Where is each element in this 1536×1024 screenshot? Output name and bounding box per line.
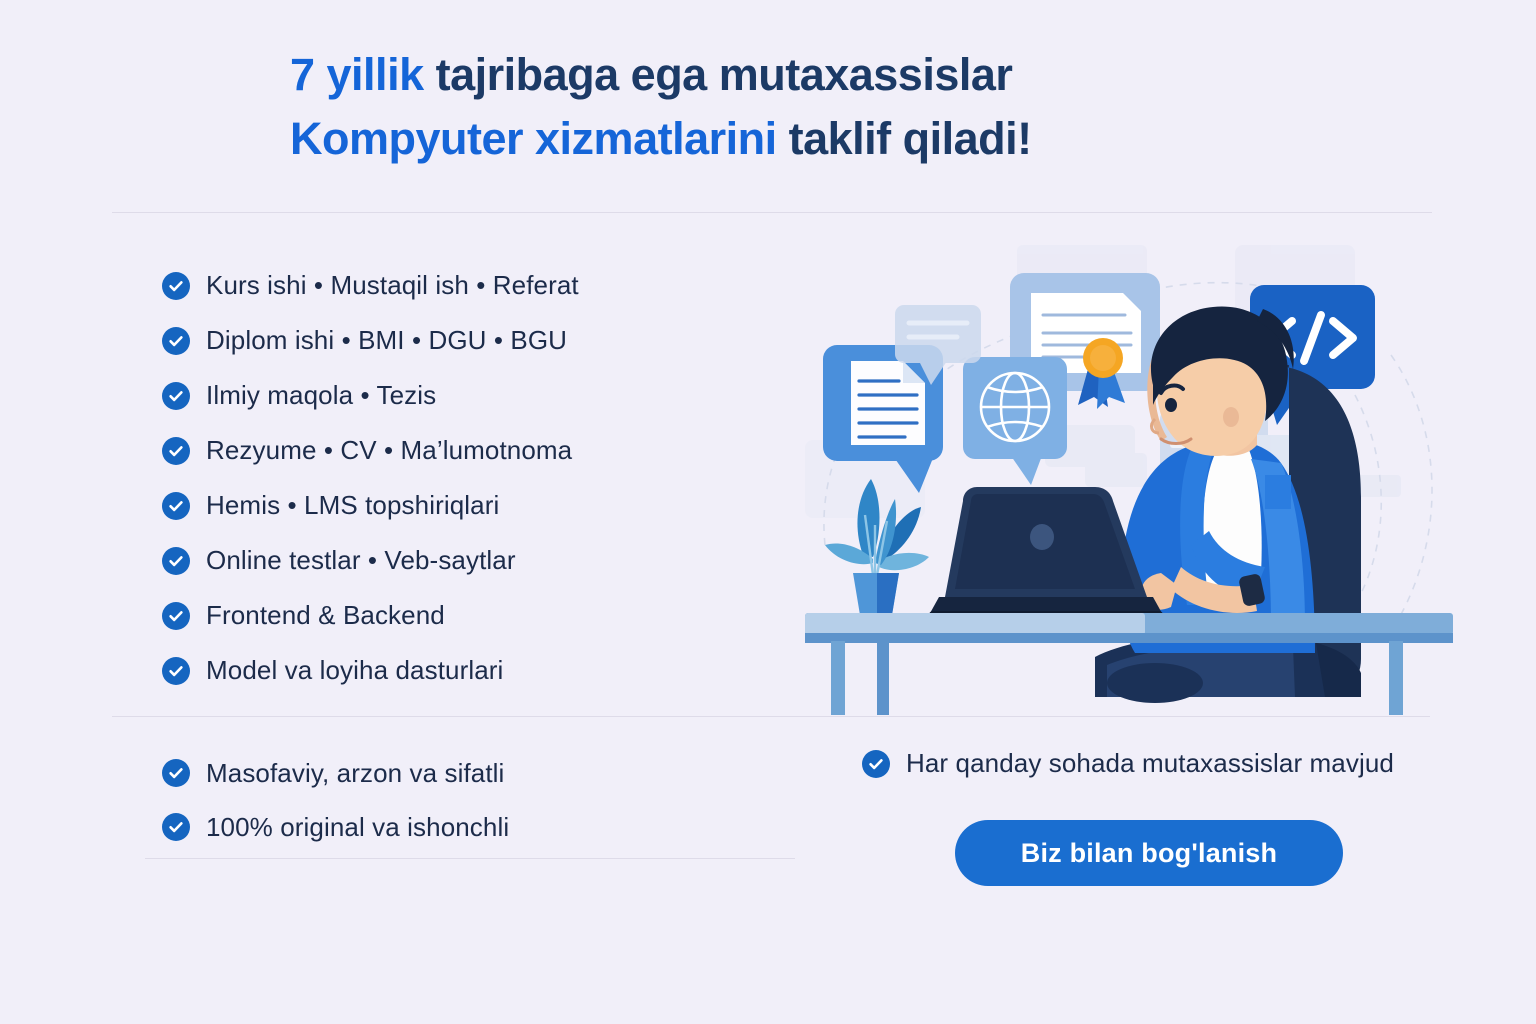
list-item: Frontend & Backend (162, 588, 782, 643)
hero-illustration (795, 245, 1465, 715)
title-line-2-rest: taklif qiladi! (789, 113, 1032, 164)
list-item-label: Online testlar • Veb-saytlar (206, 545, 516, 576)
availability-note-label: Har qanday sohada mutaxassislar mavjud (906, 748, 1394, 779)
poster-canvas: 7 yillik tajribaga ega mutaxassislar Kom… (0, 0, 1536, 1024)
title-line-2-accent: Kompyuter xizmatlarini (290, 113, 789, 164)
check-circle-icon (162, 602, 190, 630)
list-item: Model va loyiha dasturlari (162, 643, 782, 698)
title-line-1-accent: 7 yillik (290, 49, 436, 100)
list-item-label: Kurs ishi • Mustaqil ish • Referat (206, 270, 579, 301)
availability-note: Har qanday sohada mutaxassislar mavjud (862, 748, 1394, 779)
check-circle-icon (162, 382, 190, 410)
illustration-svg (795, 245, 1465, 715)
list-item-label: Frontend & Backend (206, 600, 445, 631)
check-circle-icon (162, 272, 190, 300)
list-item-label: Masofaviy, arzon va sifatli (206, 758, 504, 789)
list-item-label: Model va loyiha dasturlari (206, 655, 503, 686)
check-circle-icon (862, 750, 890, 778)
list-item: Online testlar • Veb-saytlar (162, 533, 782, 588)
contact-us-button[interactable]: Biz bilan bog'lanish (955, 820, 1343, 886)
title-line-1-rest: tajribaga ega mutaxassislar (436, 49, 1013, 100)
laptop-icon (929, 487, 1163, 619)
check-circle-icon (162, 327, 190, 355)
list-item-label: Diplom ishi • BMI • DGU • BGU (206, 325, 567, 356)
list-item: Ilmiy maqola • Tezis (162, 368, 782, 423)
check-circle-icon (162, 437, 190, 465)
check-circle-icon (162, 657, 190, 685)
list-item-label: Rezyume • CV • Ma’lumotnoma (206, 435, 572, 466)
list-item: 100% original va ishonchli (162, 800, 782, 854)
title-line-2: Kompyuter xizmatlarini taklif qiladi! (290, 110, 1470, 168)
list-item: Hemis • LMS topshiriqlari (162, 478, 782, 533)
list-item-label: Ilmiy maqola • Tezis (206, 380, 436, 411)
list-item: Rezyume • CV • Ma’lumotnoma (162, 423, 782, 478)
check-circle-icon (162, 547, 190, 575)
title-line-1: 7 yillik tajribaga ega mutaxassislar (290, 46, 1470, 104)
check-circle-icon (162, 813, 190, 841)
page-title: 7 yillik tajribaga ega mutaxassislar Kom… (290, 46, 1470, 168)
list-item-label: Hemis • LMS topshiriqlari (206, 490, 499, 521)
divider-middle (112, 716, 1430, 717)
divider-bottom (145, 858, 795, 859)
list-item: Kurs ishi • Mustaqil ish • Referat (162, 258, 782, 313)
divider-top (112, 212, 1432, 213)
check-circle-icon (162, 492, 190, 520)
service-list: Kurs ishi • Mustaqil ish • Referat Diplo… (162, 258, 782, 698)
list-item: Diplom ishi • BMI • DGU • BGU (162, 313, 782, 368)
check-circle-icon (162, 759, 190, 787)
list-item-label: 100% original va ishonchli (206, 812, 509, 843)
list-item: Masofaviy, arzon va sifatli (162, 746, 782, 800)
benefit-list: Masofaviy, arzon va sifatli 100% origina… (162, 746, 782, 854)
